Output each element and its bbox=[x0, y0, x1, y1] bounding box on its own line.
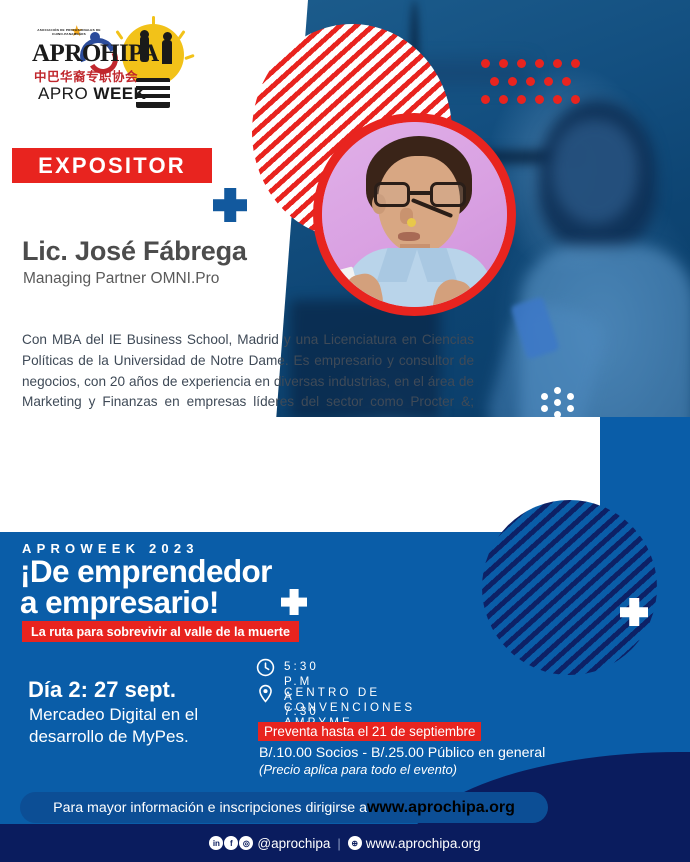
event-flyer: ★ ASOCIACIÓN DE PROFESIONALES DE CHINO-P… bbox=[0, 0, 690, 862]
event-day-title: Día 2: 27 sept. bbox=[28, 677, 176, 703]
registration-cta[interactable]: Para mayor información e inscripciones d… bbox=[20, 792, 548, 823]
speaker-role: Managing Partner OMNI.Pro bbox=[23, 270, 219, 288]
cta-url[interactable]: www.aprochipa.org bbox=[367, 799, 515, 817]
cta-text: Para mayor información e inscripciones d… bbox=[53, 800, 367, 816]
speaker-portrait bbox=[313, 113, 516, 316]
expositor-label: EXPOSITOR bbox=[38, 153, 186, 179]
white-dot-grid-decoration bbox=[541, 393, 581, 481]
social-handle[interactable]: @aprochipa bbox=[257, 836, 330, 851]
event-day-description: Mercadeo Digital en el desarrollo de MyP… bbox=[29, 704, 259, 748]
event-tagline-ribbon: La ruta para sobrevivir al valle de la m… bbox=[22, 621, 299, 642]
event-headline: ¡De emprendedor a empresario! bbox=[20, 556, 272, 618]
logo-association-line: ASOCIACIÓN DE PROFESIONALES DE CHINO-PAN… bbox=[36, 28, 102, 36]
presale-badge: Preventa hasta el 21 de septiembre bbox=[258, 722, 481, 741]
event-price: B/.10.00 Socios - B/.25.00 Público en ge… bbox=[259, 745, 545, 761]
logo-hipa-text: HIPA bbox=[100, 40, 159, 68]
logo-chinese-text: 中巴华裔专职协会 bbox=[34, 66, 138, 85]
logo-apro-text: APRO bbox=[32, 40, 101, 68]
clock-icon bbox=[256, 658, 275, 677]
plus-icon-white-right bbox=[620, 598, 648, 626]
event-price-note: (Precio aplica para todo el evento) bbox=[259, 762, 457, 777]
navy-striped-circle-decoration bbox=[482, 500, 657, 675]
social-website[interactable]: www.aprochipa.org bbox=[366, 836, 481, 851]
headline-line-1: ¡De emprendedor bbox=[20, 556, 272, 587]
logo-aproweek-text: APRO WEEK bbox=[38, 84, 146, 104]
social-separator: | bbox=[337, 836, 340, 851]
social-bar: in f ◎ @aprochipa | ⊕ www.aprochipa.org bbox=[0, 824, 690, 862]
plus-icon-white-left bbox=[281, 589, 307, 615]
logo-week-bold: WEEK bbox=[93, 84, 146, 103]
presale-label: Preventa hasta el 21 de septiembre bbox=[264, 724, 475, 739]
headline-line-2: a empresario! bbox=[20, 587, 272, 618]
instagram-icon[interactable]: ◎ bbox=[239, 836, 253, 850]
linkedin-icon[interactable]: in bbox=[209, 836, 223, 850]
red-dot-grid-decoration bbox=[481, 59, 585, 105]
speaker-name: Lic. José Fábrega bbox=[22, 236, 247, 267]
location-pin-icon bbox=[256, 684, 275, 703]
globe-icon[interactable]: ⊕ bbox=[348, 836, 362, 850]
aprochipa-logo: ★ ASOCIACIÓN DE PROFESIONALES DE CHINO-P… bbox=[22, 22, 182, 114]
facebook-icon[interactable]: f bbox=[224, 836, 238, 850]
plus-icon-blue bbox=[213, 188, 247, 222]
event-tagline: La ruta para sobrevivir al valle de la m… bbox=[31, 625, 290, 639]
logo-week-light: APRO bbox=[38, 84, 93, 103]
expositor-badge: EXPOSITOR bbox=[12, 148, 212, 183]
